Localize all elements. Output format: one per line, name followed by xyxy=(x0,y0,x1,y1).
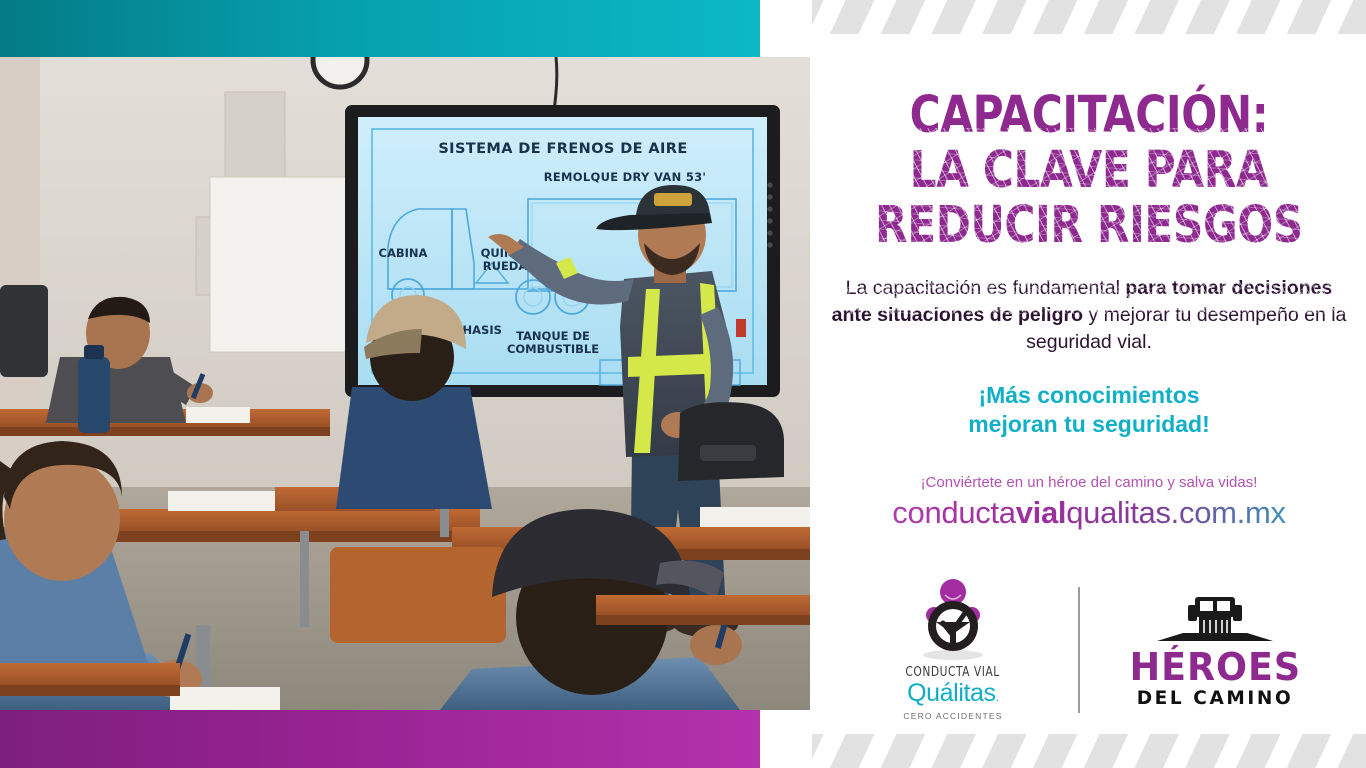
cta-text: ¡Conviértete en un héroe del camino y sa… xyxy=(812,473,1366,493)
highlight-message: ¡Más conocimientos mejoran tu seguridad! xyxy=(812,381,1366,439)
logo-divider xyxy=(1078,587,1080,713)
body-text-part-1: La capacitación es fundamental xyxy=(846,277,1126,299)
url-bold-part: vial xyxy=(1016,495,1067,530)
headline-line-1: CAPACITACIÓN: xyxy=(859,88,1319,143)
logo-heroes-title: HÉROES xyxy=(1129,647,1301,687)
svg-text:SISTEMA DE FRENOS DE AIRE: SISTEMA DE FRENOS DE AIRE xyxy=(438,141,687,157)
right-content-column: CAPACITACIÓN: LA CLAVE PARA REDUCIR RIES… xyxy=(812,40,1366,740)
bottom-purple-band xyxy=(0,710,760,768)
logo-conducta-line-1: CONDUCTA VIAL xyxy=(906,664,1000,680)
svg-text:REMOLQUE DRY VAN 53': REMOLQUE DRY VAN 53' xyxy=(544,170,707,184)
website-url[interactable]: conductavialqualitas.com.mx xyxy=(812,494,1366,532)
top-teal-band xyxy=(0,0,760,57)
logo-qualitas-wordmark: Quálitas. xyxy=(907,680,999,710)
highlight-line-1: ¡Más conocimientos xyxy=(812,381,1366,410)
steering-wheel-icon xyxy=(905,579,1001,661)
logo-heroes-subtitle: DEL CAMINO xyxy=(1137,688,1294,710)
logo-strip: CONDUCTA VIAL Quálitas. CERO ACCIDENTES xyxy=(812,560,1366,740)
url-suffix: qualitas.com.mx xyxy=(1066,495,1285,530)
bottom-band-notch xyxy=(760,710,812,768)
classroom-photo-illustration: SISTEMA DE FRENOS DE AIRE REMOLQUE DRY V… xyxy=(0,57,810,710)
url-prefix: conducta xyxy=(892,495,1015,530)
headline-line-3: REDUCIR RIESGOS xyxy=(859,198,1319,253)
top-band-notch xyxy=(760,0,812,57)
classroom-photo: SISTEMA DE FRENOS DE AIRE REMOLQUE DRY V… xyxy=(0,57,810,710)
svg-text:TANQUE DE: TANQUE DE xyxy=(516,329,590,343)
svg-text:COMBUSTIBLE: COMBUSTIBLE xyxy=(507,342,599,356)
diagonal-stripes-top xyxy=(795,0,1366,34)
page-title: CAPACITACIÓN: LA CLAVE PARA REDUCIR RIES… xyxy=(859,88,1319,253)
highlight-line-2: mejoran tu seguridad! xyxy=(812,410,1366,439)
logo-qualitas-text: Quálitas xyxy=(907,679,996,707)
logo-heroes-del-camino[interactable]: HÉROES DEL CAMINO xyxy=(1120,591,1310,710)
truck-front-icon xyxy=(1155,591,1275,647)
headline-line-2: LA CLAVE PARA xyxy=(859,143,1319,198)
svg-text:CABINA: CABINA xyxy=(379,246,428,260)
logo-conducta-vial-qualitas[interactable]: CONDUCTA VIAL Quálitas. CERO ACCIDENTES xyxy=(868,579,1038,721)
logo-qualitas-mark: . xyxy=(996,689,999,704)
body-paragraph: La capacitación es fundamental para toma… xyxy=(812,275,1366,356)
logo-conducta-tagline: CERO ACCIDENTES xyxy=(903,711,1002,721)
